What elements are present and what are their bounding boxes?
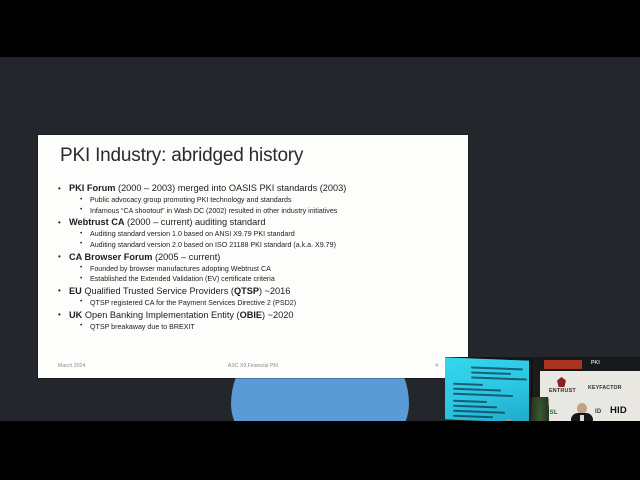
- slide-title: PKI Industry: abridged history: [60, 145, 303, 167]
- bullet-rest: (2000 – current) auditing standard: [124, 217, 265, 227]
- sub-bullet-item: Auditing standard version 1.0 based on A…: [69, 229, 458, 240]
- sub-bullet-list: QTSP breakaway due to BREXIT: [69, 322, 458, 333]
- sub-bullet-item: QTSP registered CA for the Payment Servi…: [69, 298, 458, 309]
- sub-bullet-item: QTSP breakaway due to BREXIT: [69, 322, 458, 333]
- stage-plant: [531, 397, 549, 421]
- bullet-item: EU Qualified Trusted Service Providers (…: [56, 285, 458, 309]
- speaking-presenter: [570, 403, 594, 421]
- sub-bullet-item: Infamous “CA shootout” in Wash DC (2002)…: [69, 206, 458, 217]
- sub-bullet-item: Founded by browser manufactures adopting…: [69, 264, 458, 275]
- slide-footer: March 2024 ASC X9 Financial PKI 4: [38, 361, 468, 373]
- presentation-stage: PKI Industry: abridged history PKI Forum…: [0, 57, 640, 421]
- sub-bullet-item: Auditing standard version 2.0 based on I…: [69, 240, 458, 251]
- bullet-lead: Webtrust CA: [69, 217, 124, 227]
- bullet-rest: (2000 – 2003) merged into OASIS PKI stan…: [115, 183, 346, 193]
- stage-banner-header: [540, 357, 640, 372]
- bullet-lead: UK: [69, 310, 82, 320]
- meeting-screen: PKI Industry: abridged history PKI Forum…: [0, 0, 640, 480]
- bullet-rest: (2005 – current): [152, 252, 220, 262]
- sponsor-logo-entrust: ENTRUST: [549, 388, 576, 394]
- sub-bullet-list: Founded by browser manufactures adopting…: [69, 264, 458, 285]
- letterbox-top: [0, 0, 640, 57]
- bullet-item: PKI Forum (2000 – 2003) merged into OASI…: [56, 182, 458, 216]
- sub-bullet-item: Established the Extended Validation (EV)…: [69, 274, 458, 285]
- letterbox-bottom: [0, 421, 640, 480]
- bullet-item: Webtrust CA (2000 – current) auditing st…: [56, 216, 458, 250]
- sponsor-logo-keyfactor: KEYFACTOR: [588, 385, 622, 391]
- projection-screen: [445, 357, 529, 421]
- banner-red-block: [544, 360, 582, 369]
- slide-body: PKI Forum (2000 – 2003) merged into OASI…: [56, 182, 458, 332]
- sub-bullet-item: Public advocacy group promoting PKI tech…: [69, 195, 458, 206]
- sponsor-logo-pki: PKI: [591, 360, 600, 366]
- shared-slide[interactable]: PKI Industry: abridged history PKI Forum…: [38, 135, 468, 378]
- footer-deck-title: ASC X9 Financial PKI: [38, 363, 468, 369]
- participant-video-tile[interactable]: PKI ENTRUST KEYFACTOR SSL ID HID digicer…: [445, 357, 640, 421]
- bullet-item: CA Browser Forum (2005 – current) Founde…: [56, 251, 458, 285]
- bullet-item: UK Open Banking Implementation Entity (O…: [56, 309, 458, 333]
- bullet-lead: PKI Forum: [69, 183, 115, 193]
- bullet-lead: CA Browser Forum: [69, 252, 152, 262]
- bullet-rest: Open Banking Implementation Entity (OBIE…: [82, 310, 293, 320]
- sub-bullet-list: QTSP registered CA for the Payment Servi…: [69, 298, 458, 309]
- sponsor-logo-hid: HID: [610, 405, 627, 416]
- sub-bullet-list: Public advocacy group promoting PKI tech…: [69, 195, 458, 216]
- bullet-rest: Qualified Trusted Service Providers (QTS…: [82, 286, 291, 296]
- sub-bullet-list: Auditing standard version 1.0 based on A…: [69, 229, 458, 250]
- bullet-list: PKI Forum (2000 – 2003) merged into OASI…: [56, 182, 458, 332]
- bullet-lead: EU: [69, 286, 82, 296]
- footer-page-number: 4: [435, 363, 438, 369]
- sponsor-logo-id: ID: [595, 409, 601, 415]
